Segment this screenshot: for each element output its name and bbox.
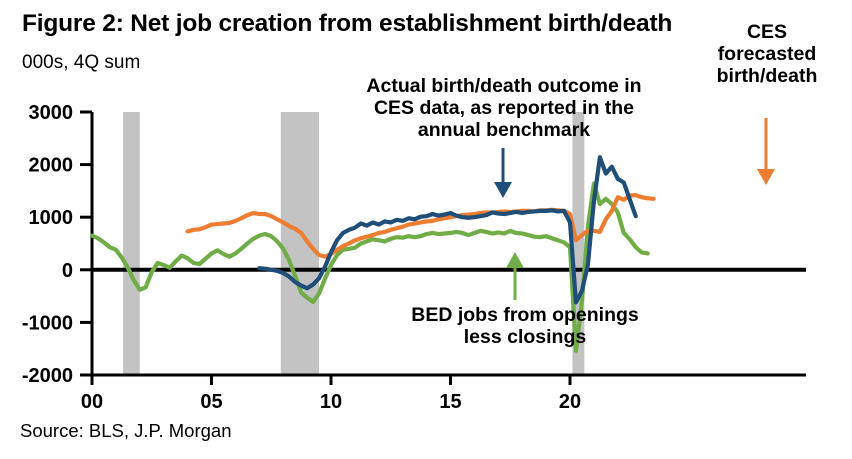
y-axis-tick-label: 1000 xyxy=(29,207,74,229)
annotation-arrow-ces-forecast xyxy=(757,118,775,185)
x-axis-tick-label: 10 xyxy=(320,391,342,413)
recession-band xyxy=(123,112,140,375)
y-axis-tick-label: 0 xyxy=(62,260,73,282)
x-axis-tick-label: 15 xyxy=(439,391,461,413)
annotation-bed: BED jobs from openings less closings xyxy=(400,305,650,349)
y-axis-tick-label: -2000 xyxy=(22,365,73,387)
annotation-arrow-bed xyxy=(506,252,524,300)
x-axis-tick-label: 20 xyxy=(559,391,581,413)
x-axis-tick-label: 05 xyxy=(200,391,222,413)
annotation-ces-actual: Actual birth/death outcome in CES data, … xyxy=(348,76,660,141)
annotation-ces-forecast: CES forecasted birth/death xyxy=(697,22,837,87)
figure-source: Source: BLS, J.P. Morgan xyxy=(20,420,232,442)
figure-container: Figure 2: Net job creation from establis… xyxy=(0,0,852,459)
y-axis-tick-label: 3000 xyxy=(29,102,74,124)
recession-band xyxy=(281,112,319,375)
y-axis-tick-label: 2000 xyxy=(29,155,74,177)
y-axis-tick-label: -1000 xyxy=(22,312,73,334)
x-axis-tick-label: 00 xyxy=(81,391,103,413)
annotation-arrow-ces-actual xyxy=(494,148,512,198)
